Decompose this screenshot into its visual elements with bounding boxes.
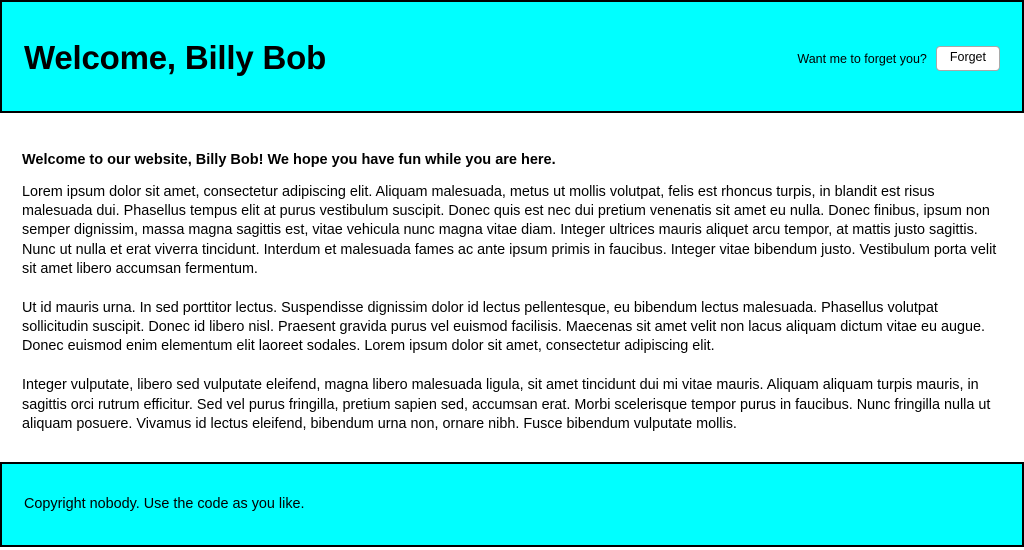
page-root: Welcome, Billy Bob Want me to forget you… <box>0 0 1024 550</box>
footer-copyright-text: Copyright nobody. Use the code as you li… <box>24 495 305 514</box>
body-paragraph: Lorem ipsum dolor sit amet, consectetur … <box>22 183 1002 279</box>
welcome-lead-text: Welcome to our website, Billy Bob! We ho… <box>22 151 1002 169</box>
main-content: Welcome to our website, Billy Bob! We ho… <box>0 113 1024 462</box>
site-footer: Copyright nobody. Use the code as you li… <box>0 462 1024 547</box>
body-paragraph: Ut id mauris urna. In sed porttitor lect… <box>22 299 1002 356</box>
site-header: Welcome, Billy Bob Want me to forget you… <box>0 0 1024 113</box>
forget-button[interactable]: Forget <box>936 46 1000 71</box>
forget-prompt-label: Want me to forget you? <box>797 52 926 66</box>
forget-area: Want me to forget you? Forget <box>797 42 1000 71</box>
page-title: Welcome, Billy Bob <box>24 36 326 76</box>
body-paragraph: Integer vulputate, libero sed vulputate … <box>22 376 1002 433</box>
